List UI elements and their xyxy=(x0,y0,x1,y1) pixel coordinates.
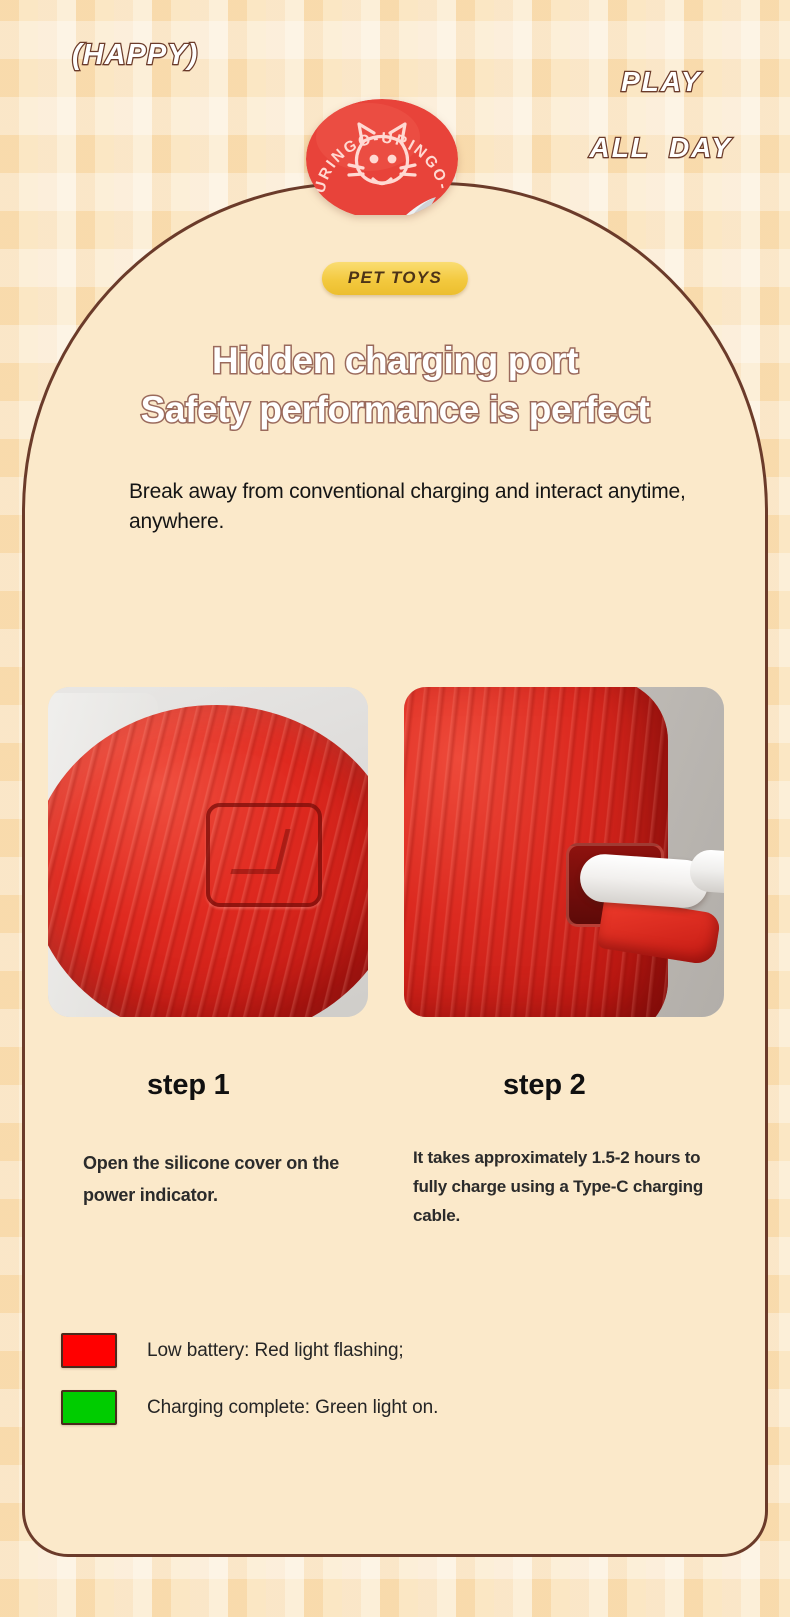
happy-wordmark: (HAPPY) xyxy=(72,38,198,72)
step-2-title: step 2 xyxy=(503,1069,586,1102)
step-1-photo xyxy=(48,687,368,1017)
step-2-photo xyxy=(404,687,724,1017)
pet-toys-badge: PET TOYS xyxy=(322,262,468,295)
battery-status-legend: Low battery: Red light flashing; Chargin… xyxy=(61,1333,701,1447)
silicone-cover-outline xyxy=(206,803,322,907)
content-card: PET TOYS Hidden charging port Safety per… xyxy=(22,182,768,1557)
legend-item: Charging complete: Green light on. xyxy=(61,1390,701,1425)
subheading-text: Break away from conventional charging an… xyxy=(129,477,709,537)
page-title: Hidden charging port Safety performance … xyxy=(25,337,765,435)
play-all-day-line-1: PLAY xyxy=(621,66,702,97)
red-status-swatch xyxy=(61,1333,117,1368)
play-all-day-line-2: ALL DAY xyxy=(589,132,732,163)
step-1-description: Open the silicone cover on the power ind… xyxy=(83,1147,383,1211)
legend-item: Low battery: Red light flashing; xyxy=(61,1333,701,1368)
step-2-description: It takes approximately 1.5-2 hours to fu… xyxy=(413,1143,733,1231)
legend-label-charging-complete: Charging complete: Green light on. xyxy=(147,1397,438,1419)
legend-label-low-battery: Low battery: Red light flashing; xyxy=(147,1340,404,1362)
headline-line-1: Hidden charging port xyxy=(25,337,765,386)
green-status-swatch xyxy=(61,1390,117,1425)
step-photo-row xyxy=(48,687,742,1017)
headline-line-2: Safety performance is perfect xyxy=(25,386,765,435)
play-all-day-wordmark: PLAY ALL DAY xyxy=(551,32,732,197)
promo-page: (HAPPY) PLAY ALL DAY URINGO-URINGO- xyxy=(0,0,790,1617)
uringo-cat-sticker-logo: URINGO-URINGO- xyxy=(306,97,458,215)
step-1-title: step 1 xyxy=(147,1069,230,1102)
usb-c-plug xyxy=(578,853,709,910)
